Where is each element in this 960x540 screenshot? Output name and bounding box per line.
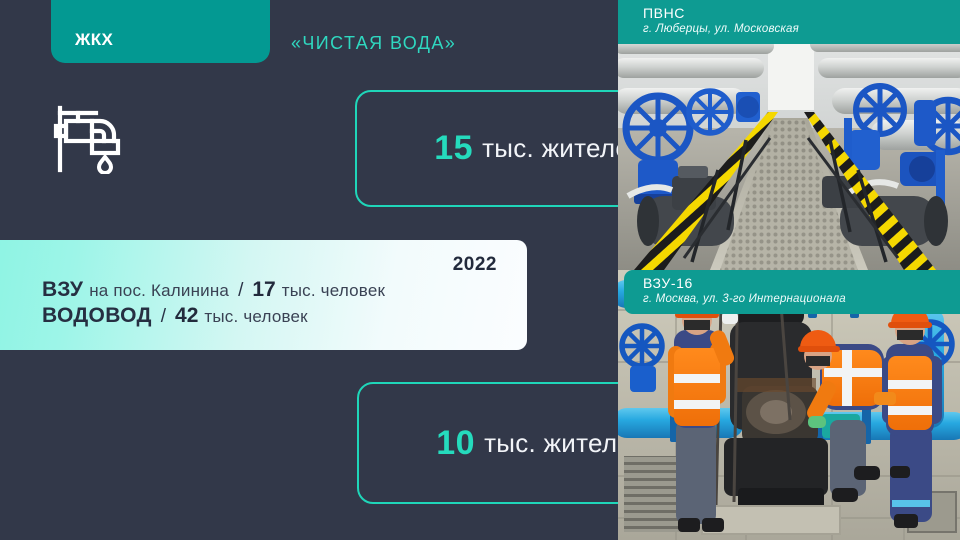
highlight-suffix: тыс. человек [204,307,307,327]
highlight-separator: / [238,280,243,302]
highlight-suffix: тыс. человек [282,281,385,301]
photo-caption-vzu16: ВЗУ-16 г. Москва, ул. 3-го Интернационал… [624,270,960,314]
photo-caption-pvns: ПВНС г. Люберцы, ул. Московская [618,0,960,44]
program-title: «ЧИСТАЯ ВОДА» [291,33,456,54]
faucet-icon [52,102,130,174]
highlight-card: 2022 ВЗУ на пос. Калинина / 17 тыс. чело… [0,240,527,350]
slide-root: ЖКХ «ЧИСТАЯ ВОДА» [0,0,960,540]
caption-title: ВЗУ-16 [643,275,960,292]
highlight-label: ВЗУ [42,278,83,302]
highlight-number: 17 [252,278,275,302]
highlight-separator: / [161,306,166,328]
highlight-label: ВОДОВОД [42,304,152,328]
caption-subtitle: г. Москва, ул. 3-го Интернационала [643,292,960,307]
section-tab-zhkh[interactable]: ЖКХ [51,0,270,63]
highlight-year: 2022 [453,254,497,276]
highlight-row: ВОДОВОД / 42 тыс. человек [42,304,308,328]
left-content-panel: ЖКХ «ЧИСТАЯ ВОДА» [0,0,618,540]
caption-subtitle: г. Люберцы, ул. Московская [643,22,960,37]
photo-vzu16: ВЗУ-16 г. Москва, ул. 3-го Интернационал… [618,270,960,540]
caption-title: ПВНС [643,5,960,22]
photo-pvns: ПВНС г. Люберцы, ул. Московская [618,0,960,270]
stat-number: 15 [434,129,473,168]
stat-number: 10 [436,424,475,463]
photo-column: ПВНС г. Люберцы, ул. Московская [618,0,960,540]
highlight-row: ВЗУ на пос. Калинина / 17 тыс. человек [42,278,385,302]
highlight-sublabel: на пос. Калинина [89,281,229,301]
highlight-number: 42 [175,304,198,328]
section-tab-label: ЖКХ [75,30,113,50]
